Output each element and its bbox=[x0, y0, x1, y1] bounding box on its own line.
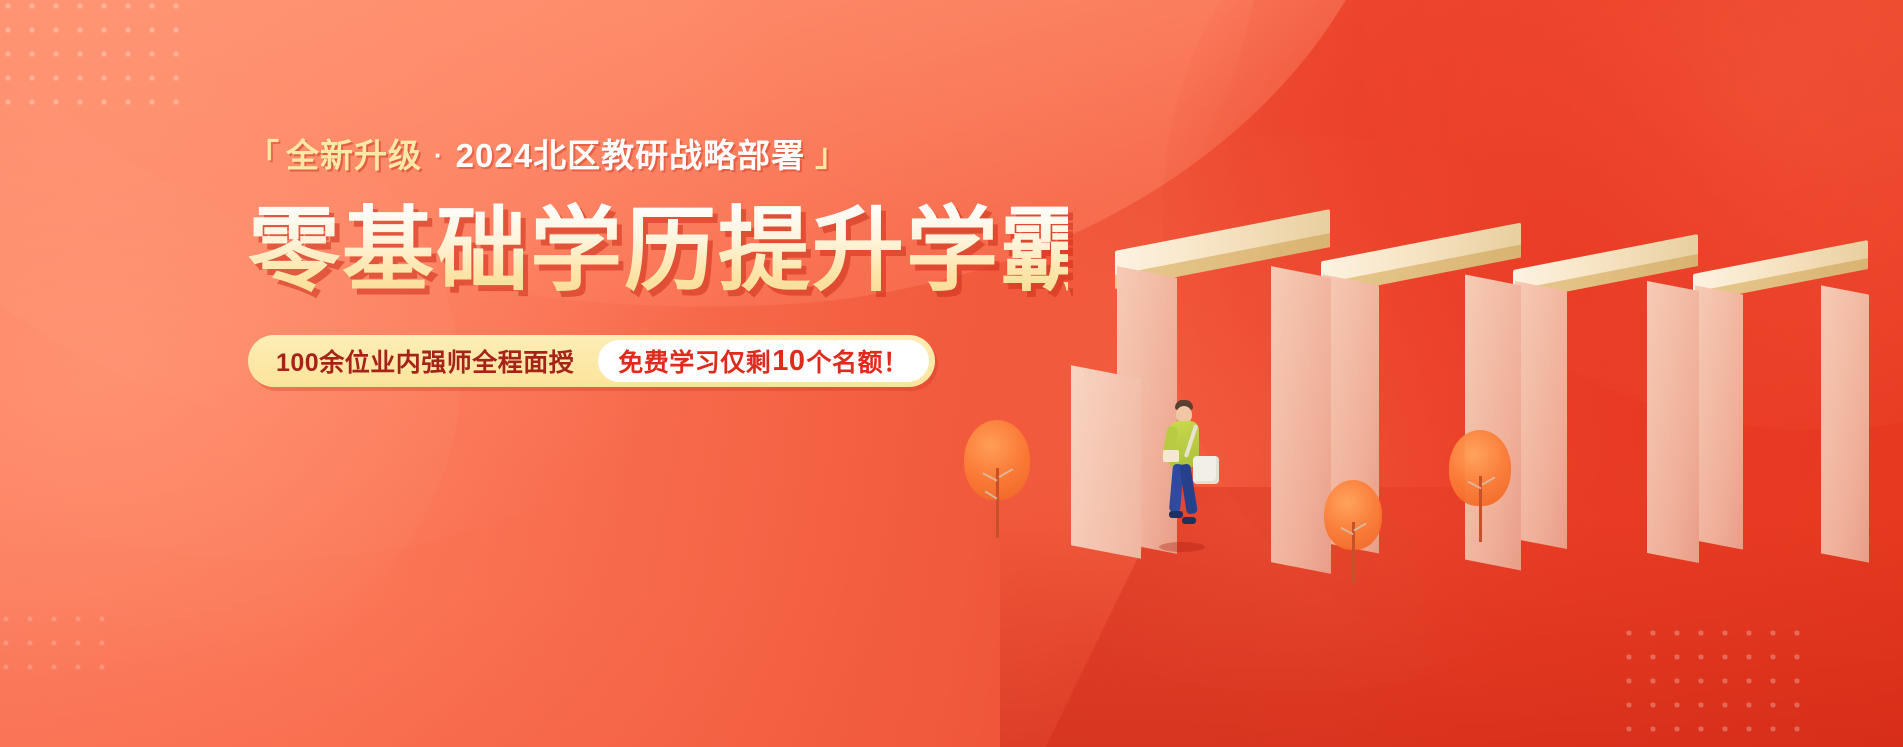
tree-middle bbox=[1318, 480, 1388, 600]
bracket-open: 「 bbox=[248, 137, 280, 174]
banner-subtitle: 「 全新升级 · 2024北区教研战略部署 」 bbox=[248, 128, 1068, 184]
dot-pattern-bottom-left bbox=[0, 607, 114, 677]
subtitle-highlight: 全新升级 bbox=[286, 136, 422, 176]
figure-shadow bbox=[1159, 542, 1205, 552]
pill-seats-prefix: 免费学习仅剩 bbox=[618, 343, 771, 379]
figure-bag bbox=[1193, 456, 1219, 484]
bg-arc-bottom bbox=[0, 457, 950, 747]
tree-right bbox=[1443, 430, 1521, 555]
bracket-close: 」 bbox=[815, 137, 847, 174]
subtitle-separator-dot: · bbox=[422, 140, 456, 171]
arch-front-slab bbox=[1071, 365, 1141, 559]
arch-pillar-4-right bbox=[1821, 285, 1869, 562]
dot-pattern-top-left bbox=[0, 0, 186, 114]
page-title: 零基础学历提升学霸班 bbox=[248, 202, 1068, 301]
pill-seats-suffix: 个名额！ bbox=[807, 343, 909, 379]
highlight-pill[interactable]: 100余位业内强师全程面授 免费学习仅剩 10 个名额！ bbox=[248, 335, 935, 387]
figure-shoe-left bbox=[1169, 511, 1183, 518]
figure-book bbox=[1163, 450, 1179, 462]
arch-pillar-3-left bbox=[1515, 281, 1567, 549]
arch-pillar-4-left bbox=[1695, 285, 1743, 549]
pill-seats-badge[interactable]: 免费学习仅剩 10 个名额！ bbox=[598, 340, 928, 382]
arch-pillar-3-right bbox=[1647, 281, 1699, 563]
figure-shoe-right bbox=[1182, 517, 1196, 524]
student-figure bbox=[1153, 400, 1233, 550]
subtitle-rest: 2024北区教研战略部署 bbox=[456, 136, 805, 176]
pill-seats-count: 10 bbox=[771, 345, 806, 378]
banner-illustration bbox=[1043, 0, 1903, 747]
promo-banner: 「 全新升级 · 2024北区教研战略部署 」 零基础学历提升学霸班 100余位… bbox=[0, 0, 1903, 747]
pill-teachers-label: 100余位业内强师全程面授 bbox=[276, 343, 598, 379]
banner-text-block: 「 全新升级 · 2024北区教研战略部署 」 零基础学历提升学霸班 100余位… bbox=[248, 128, 1068, 387]
tree-left bbox=[958, 420, 1038, 550]
